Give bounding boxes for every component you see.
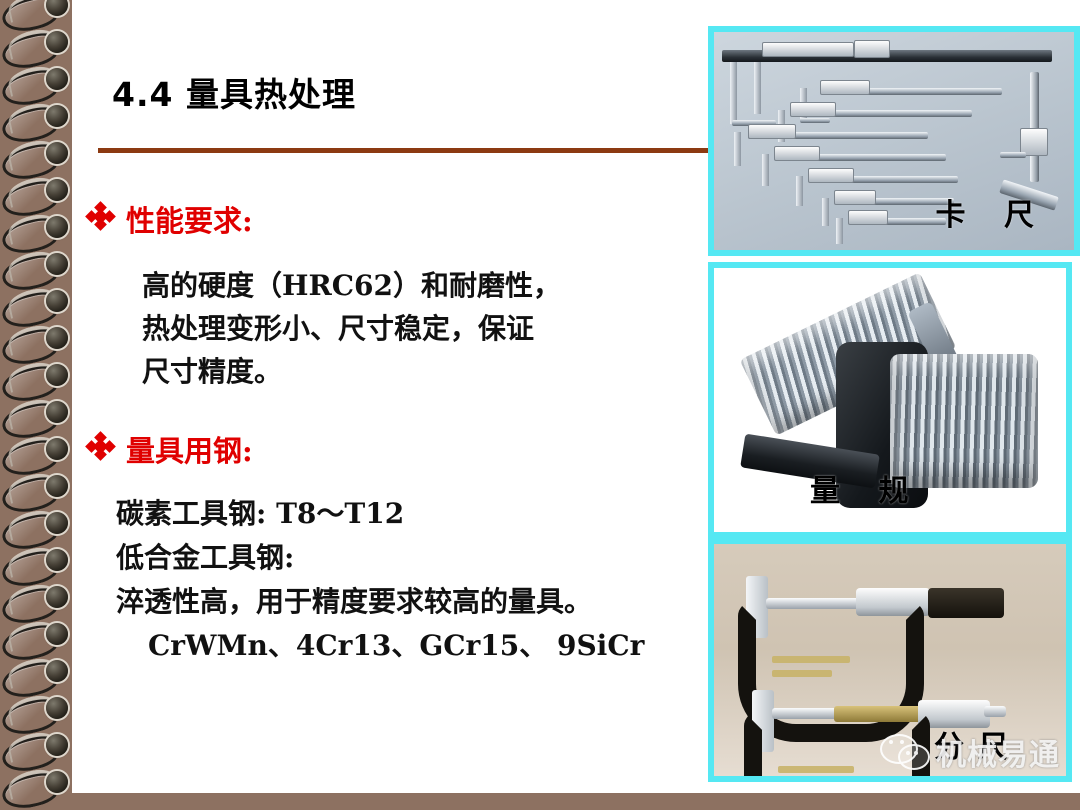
binding-ring	[2, 436, 70, 474]
binding-ring	[2, 399, 70, 437]
slide-root: 4.4 量具热处理 性能要求: 高的硬度（HRC62）和耐磨性， 热处理变形小、…	[0, 0, 1080, 810]
diamond-bullet-icon	[88, 204, 112, 228]
diamond-bullet-icon	[88, 434, 112, 458]
steel-line-3: 淬透性高，用于精度要求较高的量具。	[116, 580, 756, 624]
binding-ring	[2, 251, 70, 289]
section-heading-steel: 量具用钢:	[88, 428, 253, 470]
binding-ring	[2, 29, 70, 67]
photo-calipers: 卡 尺	[708, 26, 1080, 256]
steel-line-2: 低合金工具钢:	[116, 536, 756, 580]
binding-ring	[2, 288, 70, 326]
binding-ring	[2, 214, 70, 252]
spiral-binding	[0, 0, 72, 810]
section-heading-performance: 性能要求:	[88, 198, 253, 240]
binding-ring	[2, 325, 70, 363]
binding-ring	[2, 473, 70, 511]
binding-ring	[2, 362, 70, 400]
performance-line-3: 尺寸精度。	[142, 350, 742, 393]
binding-ring	[2, 140, 70, 178]
page-title: 4.4 量具热处理	[112, 68, 356, 116]
binding-ring	[2, 547, 70, 585]
photo-label-calipers: 卡 尺	[936, 190, 1048, 234]
performance-heading-label: 性能要求:	[126, 198, 253, 240]
binding-ring	[2, 621, 70, 659]
photo-thread-gauge: 量 规	[708, 262, 1072, 538]
title-number: 4.4	[112, 75, 173, 114]
binding-ring	[2, 732, 70, 770]
binding-ring	[2, 177, 70, 215]
performance-line-1: 高的硬度（HRC62）和耐磨性，	[142, 264, 742, 307]
performance-body: 高的硬度（HRC62）和耐磨性， 热处理变形小、尺寸稳定，保证 尺寸精度。	[142, 264, 742, 393]
binding-ring	[2, 66, 70, 104]
wechat-icon	[880, 732, 934, 772]
binding-ring	[2, 584, 70, 622]
title-divider	[98, 148, 708, 153]
photo-micrometer: 分尺 机械易通	[708, 538, 1072, 782]
binding-ring	[2, 769, 70, 807]
steel-body: 碳素工具钢: T8～T12 低合金工具钢: 淬透性高，用于精度要求较高的量具。 …	[116, 492, 756, 668]
binding-ring	[2, 0, 70, 30]
binding-ring	[2, 103, 70, 141]
title-text: 量具热处理	[186, 75, 356, 114]
watermark-text: 机械易通	[936, 730, 1060, 774]
photo-label-gauge: 量 规	[810, 466, 922, 510]
steel-heading-label: 量具用钢:	[126, 428, 253, 470]
steel-line-4: CrWMn、4Cr13、GCr15、 9SiCr	[116, 624, 756, 668]
watermark: 机械易通	[880, 730, 1060, 774]
performance-line-2: 热处理变形小、尺寸稳定，保证	[142, 307, 742, 350]
steel-line-1: 碳素工具钢: T8～T12	[116, 492, 756, 536]
binding-ring	[2, 510, 70, 548]
binding-ring	[2, 658, 70, 696]
binding-ring	[2, 695, 70, 733]
